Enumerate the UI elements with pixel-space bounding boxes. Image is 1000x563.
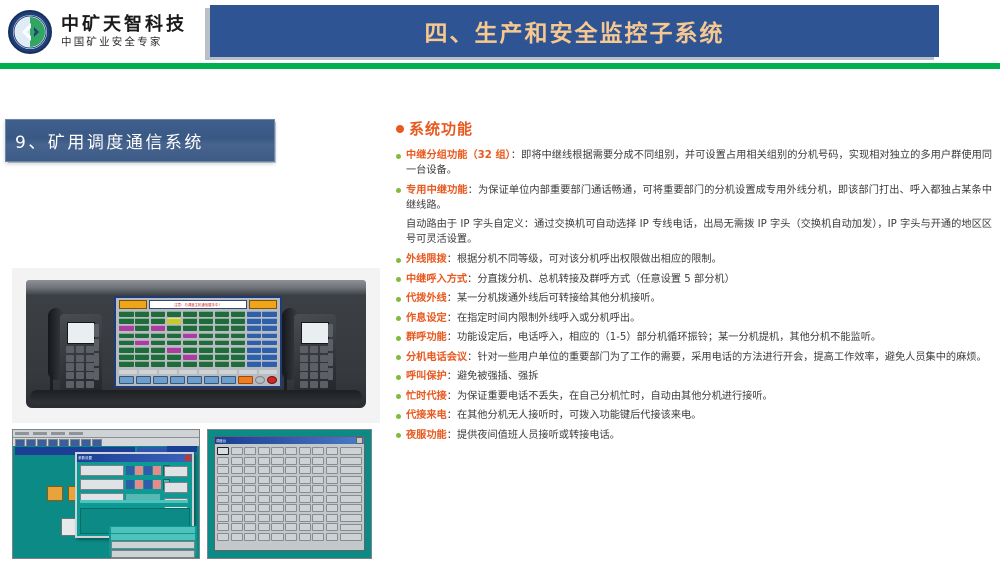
list-item: 中继分组功能（32 组）：即将中继线根据需要分成不同组别，并可设置占用相关组别的… xyxy=(396,148,992,178)
company-tagline: 中国矿业安全专家 xyxy=(61,37,187,48)
bullet-text: 分机电话会议：针对一些用户单位的重要部门为了工作的需要，采用电话的方法进行开会，… xyxy=(406,350,992,365)
slide-title-bar: 四、生产和安全监控子系统 xyxy=(210,5,939,57)
list-item: 夜服功能：提供夜间值班人员接听或转接电话。 xyxy=(396,428,992,443)
sw-bottom-panel xyxy=(109,526,197,556)
console-settings-button xyxy=(119,300,147,309)
company-emblem-icon xyxy=(8,10,52,54)
console-extension-grid xyxy=(119,311,277,367)
bullet-icon xyxy=(396,316,401,321)
phone-side-keys xyxy=(328,324,333,380)
close-icon xyxy=(185,455,191,461)
extension-keypad-screenshot: 调度台 xyxy=(207,429,372,559)
bullet-icon xyxy=(396,188,401,193)
list-item: 代拨外线：某一分机拨通外线后可转接给其他分机接听。 xyxy=(396,291,992,306)
bullet-icon xyxy=(396,336,401,341)
keypad-side-buttons xyxy=(340,447,362,541)
phone-body xyxy=(60,314,102,396)
bullet-text: 忙时代接：为保证重要电话不丢失，在自己分机忙时，自动由其他分机进行接听。 xyxy=(406,389,992,404)
bullet-text: 外线限拨：根据分机不同等级，可对该分机呼出权限做出相应的限制。 xyxy=(406,252,992,267)
bullet-text: 中继呼入方式：分直拨分机、总机转接及群呼方式（任意设置 5 部分机） xyxy=(406,272,992,287)
subtitle-text: 9、矿用调度通信系统 xyxy=(6,128,204,153)
bullet-text: 呼叫保护：避免被强插、强拆 xyxy=(406,369,992,384)
console-desk: 注意：与调度主机通信握手中！ xyxy=(26,280,366,408)
list-item: 作息设定：在指定时间内限制外线呼入或分机呼出。 xyxy=(396,311,992,326)
list-item: 群呼功能：功能设定后，电话呼入，相应的（1-5）部分机循环振铃；某一分机提机，其… xyxy=(396,330,992,345)
auto-route-paragraph: 自动路由于 IP 字头自定义：通过交换机可自动选择 IP 专线电话，出局无需拨 … xyxy=(406,217,992,247)
keypad-window-titlebar: 调度台 xyxy=(215,437,364,444)
company-logo-block: 中矿天智科技 中国矿业安全专家 xyxy=(8,4,198,60)
list-item: 分机电话会议：针对一些用户单位的重要部门为了工作的需要，采用电话的方法进行开会，… xyxy=(396,350,992,365)
system-functions-panel: 系统功能 中继分组功能（32 组）：即将中继线根据需要分成不同组别，并可设置占用… xyxy=(396,118,992,448)
phone-body xyxy=(294,314,336,396)
bullet-text: 专用中继功能：为保证单位内部重要部门通话畅通，可将重要部门的分机设置成专用外线分… xyxy=(406,183,992,213)
console-screen-topbar: 注意：与调度主机通信握手中！ xyxy=(119,300,277,309)
list-item: 专用中继功能：为保证单位内部重要部门通话畅通，可将重要部门的分机设置成专用外线分… xyxy=(396,183,992,213)
bullet-text: 中继分组功能（32 组）：即将中继线根据需要分成不同组别，并可设置占用相关组别的… xyxy=(406,148,992,178)
page-header: 中矿天智科技 中国矿业安全专家 四、生产和安全监控子系统 xyxy=(0,0,1000,62)
console-touchscreen: 注意：与调度主机通信握手中！ xyxy=(114,296,282,388)
bullet-text: 代拨外线：某一分机拨通外线后可转接给其他分机接听。 xyxy=(406,291,992,306)
sw-menu-bar xyxy=(13,430,199,438)
console-legend xyxy=(119,369,277,374)
keypad-button-grid xyxy=(217,447,338,541)
phone-keypad xyxy=(66,346,94,388)
keypad-window-title: 调度台 xyxy=(216,438,226,443)
bullet-icon xyxy=(396,433,401,438)
section-title: 系统功能 xyxy=(409,118,473,139)
green-divider xyxy=(0,63,1000,69)
list-item: 中继呼入方式：分直拨分机、总机转接及群呼方式（任意设置 5 部分机） xyxy=(396,272,992,287)
dispatch-console-photo: 注意：与调度主机通信握手中！ xyxy=(12,268,380,423)
section-bullet-icon xyxy=(396,125,404,133)
phone-keypad xyxy=(300,346,328,388)
bullet-text: 代接来电：在其他分机无人接听时，可拨入功能键后代接该来电。 xyxy=(406,408,992,423)
bullet-icon xyxy=(396,154,401,159)
company-name: 中矿天智科技 xyxy=(61,16,187,34)
bullet-text: 夜服功能：提供夜间值班人员接听或转接电话。 xyxy=(406,428,992,443)
phone-side-keys xyxy=(94,324,99,380)
sw-dialog-list-header xyxy=(80,500,188,507)
sw-right-marker xyxy=(167,446,197,452)
bullet-text: 作息设定：在指定时间内限制外线呼入或分机呼出。 xyxy=(406,311,992,326)
list-item: 呼叫保护：避免被强插、强拆 xyxy=(396,369,992,384)
list-item: 外线限拨：根据分机不同等级，可对该分机呼出权限做出相应的限制。 xyxy=(396,252,992,267)
sw-dialog-title: 参数设置 xyxy=(78,456,92,461)
bullet-icon xyxy=(396,375,401,380)
phone-lcd-screen xyxy=(301,322,329,344)
dispatch-software-screenshot: 参数设置 xyxy=(12,429,200,559)
page-title: 四、生产和安全监控子系统 xyxy=(425,14,725,48)
bullet-icon xyxy=(396,277,401,282)
bullet-icon xyxy=(396,258,401,263)
subtitle-banner: 9、矿用调度通信系统 xyxy=(5,119,275,162)
console-exit-button xyxy=(249,300,277,309)
bullet-icon xyxy=(396,355,401,360)
list-item: 代接来电：在其他分机无人接听时，可拨入功能键后代接该来电。 xyxy=(396,408,992,423)
phone-lcd-screen xyxy=(67,322,95,344)
bullet-icon xyxy=(396,297,401,302)
sw-dialog-titlebar: 参数设置 xyxy=(77,454,192,462)
bullet-icon xyxy=(396,414,401,419)
bullet-text: 群呼功能：功能设定后，电话呼入，相应的（1-5）部分机循环振铃；某一分机提机，其… xyxy=(406,330,992,345)
keypad-window: 调度台 xyxy=(214,436,365,551)
company-logo-text: 中矿天智科技 中国矿业安全专家 xyxy=(61,16,187,48)
console-phone-right xyxy=(282,302,344,398)
console-function-buttons xyxy=(119,376,277,384)
console-status-banner: 注意：与调度主机通信握手中！ xyxy=(149,300,247,309)
bullet-icon xyxy=(396,394,401,399)
close-icon xyxy=(356,437,363,444)
console-phone-left xyxy=(48,302,110,398)
list-item: 忙时代接：为保证重要电话不丢失，在自己分机忙时，自动由其他分机进行接听。 xyxy=(396,389,992,404)
console-desk-front-edge xyxy=(30,390,362,404)
section-heading: 系统功能 xyxy=(396,118,992,139)
